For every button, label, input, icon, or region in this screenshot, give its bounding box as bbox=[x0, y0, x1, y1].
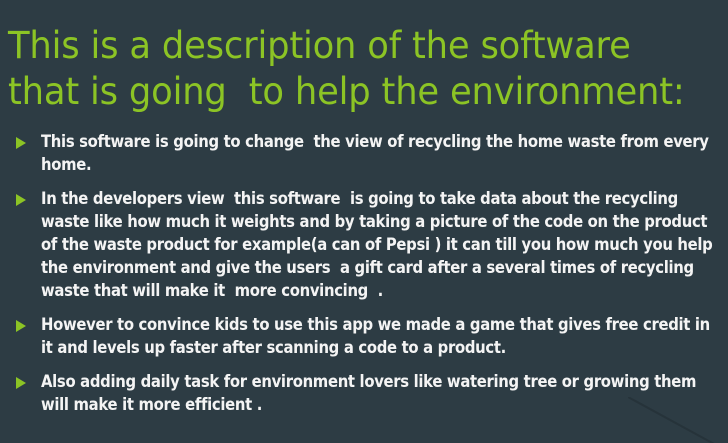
bullet-list: This software is going to change the vie… bbox=[8, 130, 724, 416]
triangle-right-bullet-icon bbox=[16, 377, 26, 389]
bullet-text-2: In the developers view this software is … bbox=[41, 187, 724, 302]
triangle-right-bullet-icon bbox=[16, 137, 26, 149]
presentation-slide: This is a description of the software th… bbox=[0, 0, 728, 443]
bullet-item-2: In the developers view this software is … bbox=[8, 187, 724, 302]
triangle-right-bullet-icon bbox=[16, 320, 26, 332]
bullet-item-3: However to convince kids to use this app… bbox=[8, 313, 724, 359]
bullet-item-1: This software is going to change the vie… bbox=[8, 130, 724, 176]
bullet-text-1: This software is going to change the vie… bbox=[41, 130, 724, 176]
bullet-text-4: Also adding daily task for environment l… bbox=[41, 370, 724, 416]
bullet-item-4: Also adding daily task for environment l… bbox=[8, 370, 724, 416]
bullet-text-3: However to convince kids to use this app… bbox=[41, 313, 724, 359]
triangle-right-bullet-icon bbox=[16, 194, 26, 206]
slide-title: This is a description of the software th… bbox=[8, 23, 692, 115]
